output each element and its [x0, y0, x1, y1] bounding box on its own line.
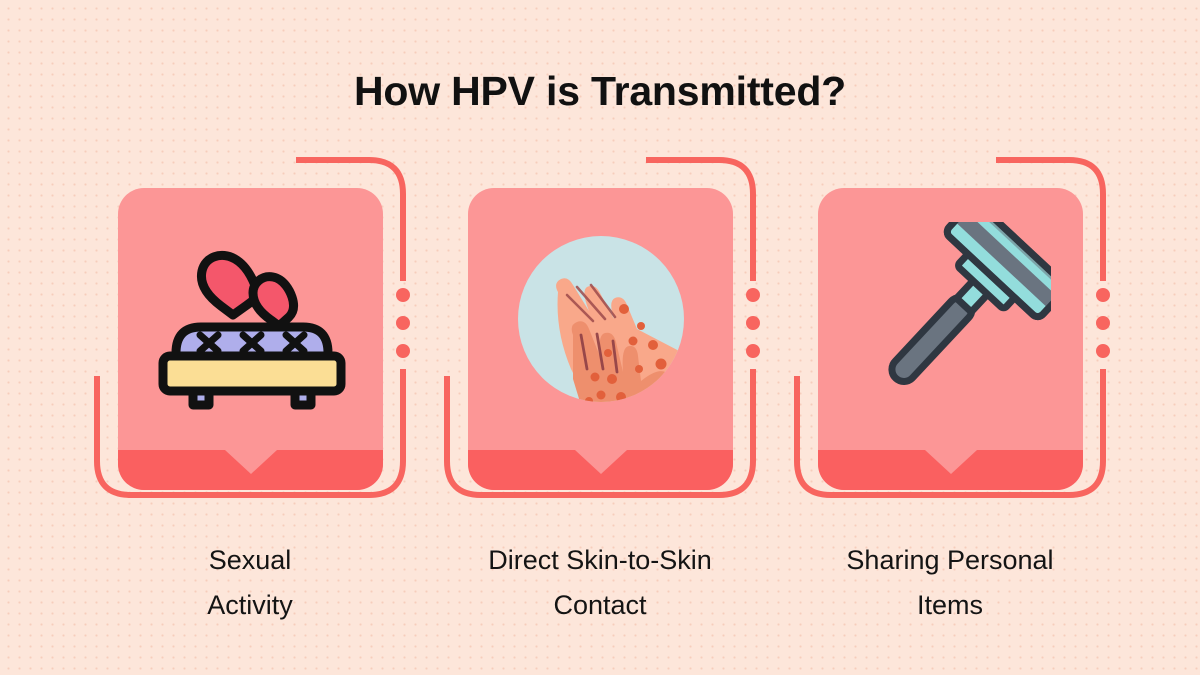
icon-container — [818, 188, 1083, 450]
caption-line: Sharing Personal — [774, 538, 1126, 583]
frame-dot — [746, 344, 760, 358]
card-column-skin-to-skin: Direct Skin-to-Skin Contact — [430, 150, 770, 650]
caption-line: Sexual — [74, 538, 426, 583]
icon-container — [118, 188, 383, 450]
bed-mattress — [163, 356, 341, 391]
frame-dot — [1096, 316, 1110, 330]
bed-with-hearts-icon — [151, 227, 351, 412]
caption-line: Activity — [74, 583, 426, 628]
frame-dot — [396, 344, 410, 358]
hands-with-rash-icon — [511, 229, 691, 409]
card-caption-sexual-activity: Sexual Activity — [74, 538, 426, 628]
card-column-sharing-items: Sharing Personal Items — [780, 150, 1120, 650]
caption-line: Direct Skin-to-Skin — [424, 538, 776, 583]
card-sharing-items[interactable] — [818, 188, 1083, 490]
razor-icon — [851, 222, 1051, 417]
frame-dot — [746, 288, 760, 302]
caption-line: Items — [774, 583, 1126, 628]
card-caption-skin-to-skin: Direct Skin-to-Skin Contact — [424, 538, 776, 628]
card-sexual-activity[interactable] — [118, 188, 383, 490]
frame-dot — [746, 316, 760, 330]
frame-dot — [1096, 288, 1110, 302]
card-skin-to-skin[interactable] — [468, 188, 733, 490]
card-notch — [575, 450, 627, 474]
card-notch — [225, 450, 277, 474]
card-notch — [925, 450, 977, 474]
card-caption-sharing-items: Sharing Personal Items — [774, 538, 1126, 628]
frame-dot — [396, 316, 410, 330]
frame-dot — [396, 288, 410, 302]
frame-dot — [1096, 344, 1110, 358]
heart-icon — [201, 255, 293, 326]
icon-container — [468, 188, 733, 450]
caption-line: Contact — [424, 583, 776, 628]
page-title: How HPV is Transmitted? — [0, 68, 1200, 115]
card-column-sexual-activity: Sexual Activity — [80, 150, 420, 650]
infographic-canvas: How HPV is Transmitted? — [0, 0, 1200, 675]
